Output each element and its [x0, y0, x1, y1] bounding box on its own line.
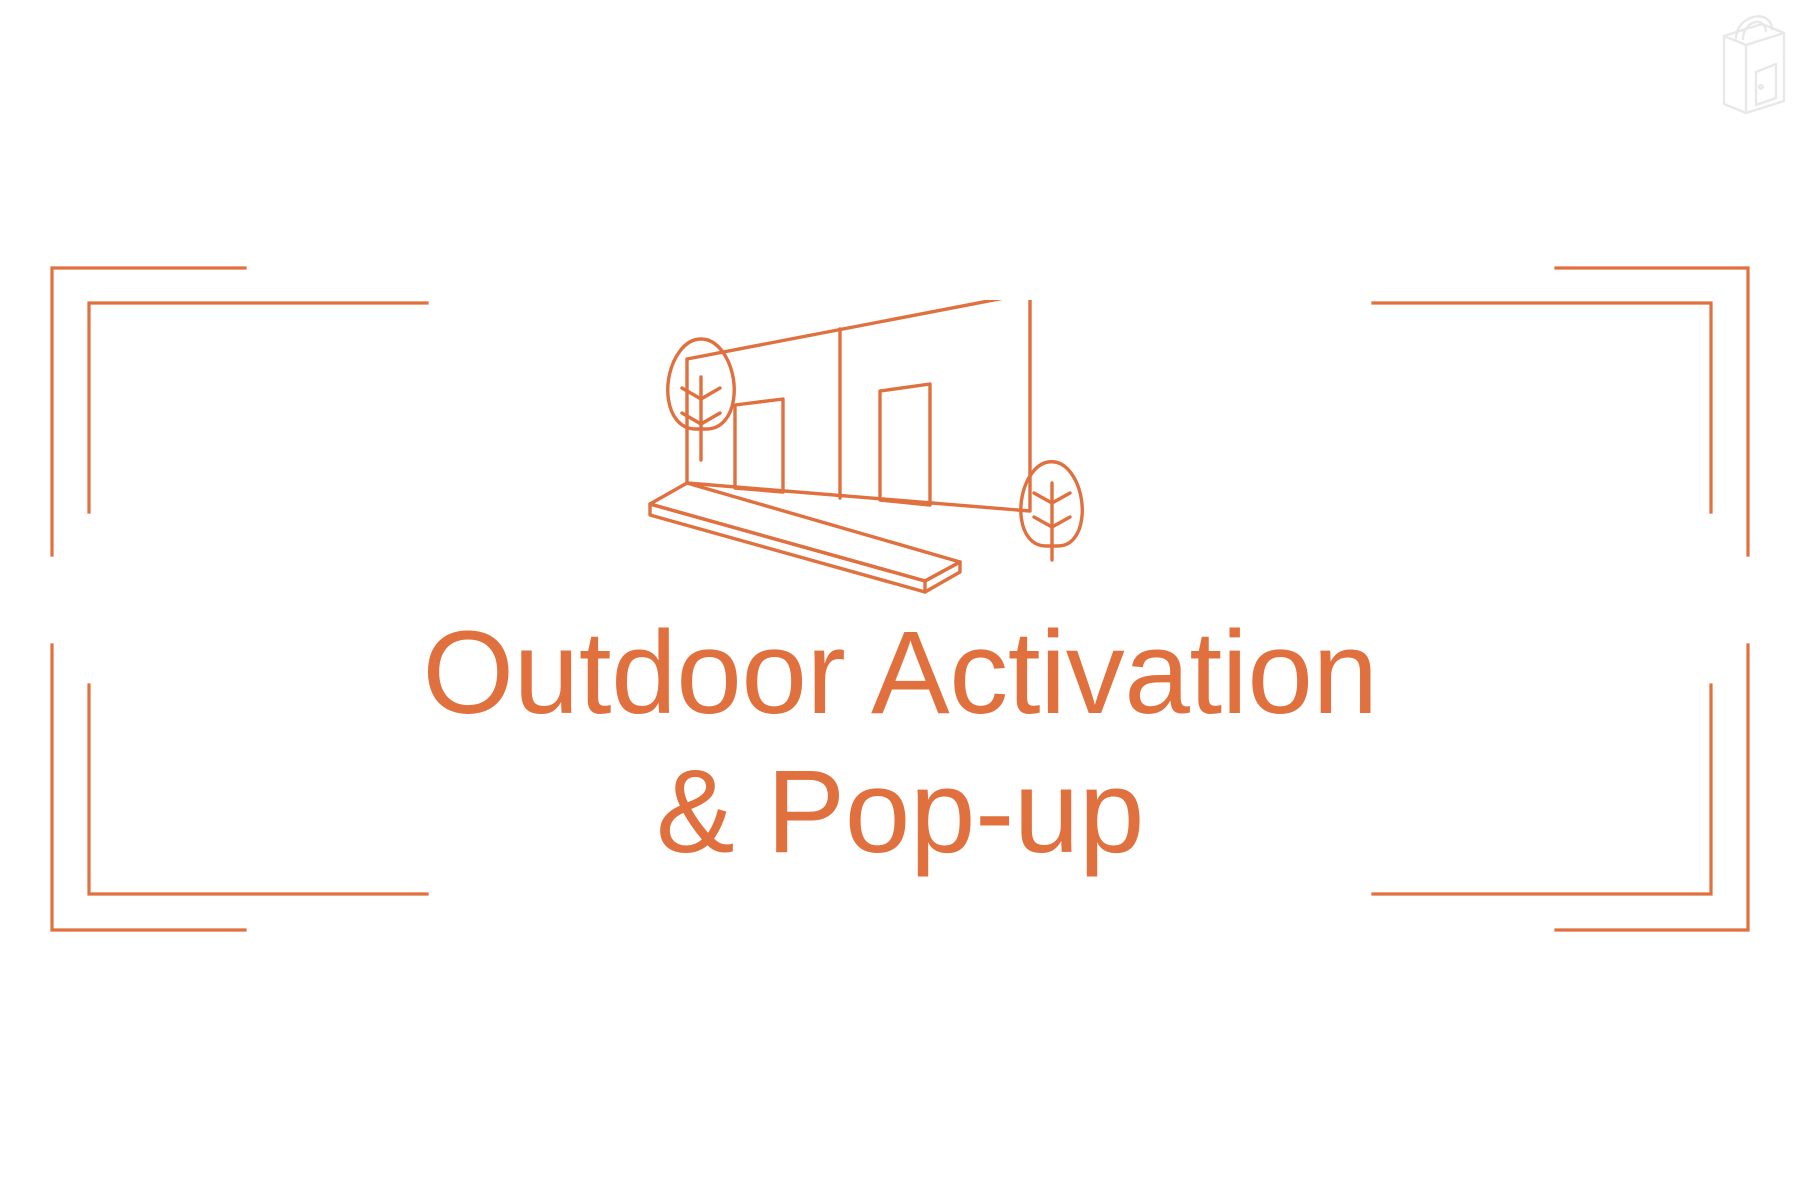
bracket-top-left-outer	[52, 268, 245, 555]
shopping-bag-icon	[1698, 6, 1794, 118]
bracket-top-right-outer	[1556, 268, 1748, 555]
slide-canvas: Outdoor Activation & Pop-up	[0, 0, 1800, 1200]
door-right	[880, 384, 930, 505]
shopping-bag-logo	[1698, 6, 1794, 118]
door-left	[735, 399, 783, 492]
sidewalk-platform-top	[650, 483, 960, 581]
title-line-1: Outdoor Activation	[0, 604, 1800, 743]
bracket-top-right-inner	[1373, 303, 1711, 512]
sidewalk-platform-edge	[650, 504, 925, 592]
sidewalk-platform-return	[925, 562, 960, 581]
page-title: Outdoor Activation & Pop-up	[0, 604, 1800, 882]
outdoor-storefront-illustration	[640, 300, 1160, 620]
bracket-top-left-inner	[89, 303, 427, 512]
title-line-2: & Pop-up	[0, 743, 1800, 882]
